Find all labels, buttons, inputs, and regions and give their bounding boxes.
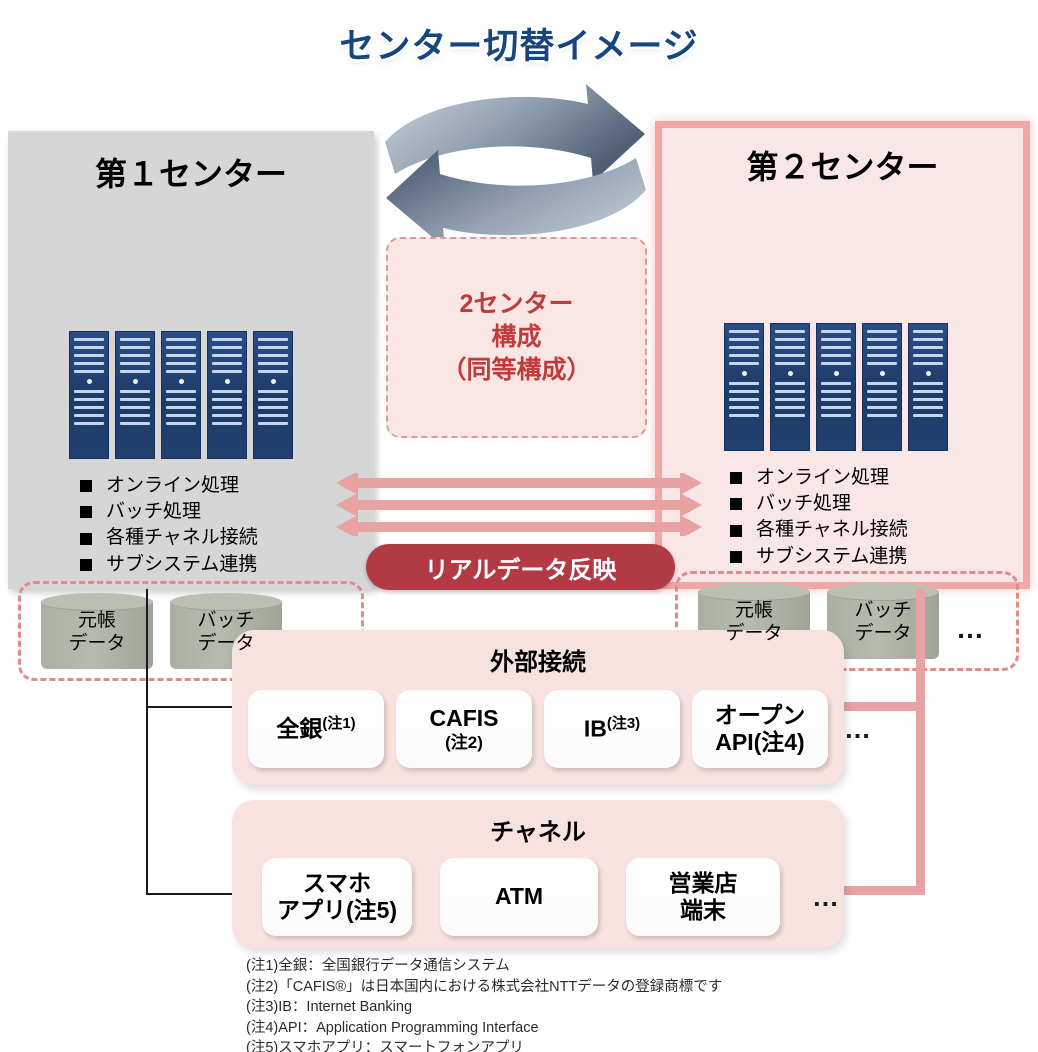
connector-right-to-channel (838, 886, 918, 895)
server-rack-icon (69, 331, 109, 459)
external-connections-title: 外部接続 (232, 642, 844, 677)
server-rack-icon (115, 331, 155, 459)
bullet-square-icon (80, 506, 92, 518)
bullet-square-icon (730, 551, 742, 563)
db-label-line2: データ (170, 632, 282, 655)
bullet-square-icon (730, 472, 742, 484)
note-line-2: 構成 (491, 321, 541, 354)
db-label-line2: データ (827, 622, 939, 645)
feature-item: サブシステム連携 (80, 552, 258, 578)
center-1-title: 第１センター (8, 149, 374, 195)
card-label: スマホ (277, 870, 397, 897)
server-rack-icon (908, 323, 948, 451)
card-zengin[interactable]: 全銀(注1) (248, 690, 384, 768)
card-label-2: 端末 (669, 897, 738, 924)
feature-item: バッチ処理 (80, 499, 258, 525)
server-rack-icon (207, 331, 247, 459)
center-1-feature-list: オンライン処理 バッチ処理 各種チャネル接続 サブシステム連携 (80, 473, 258, 578)
footnote-2: (注2)「CAFIS®」は日本国内における株式会社NTTデータの登録商標です (246, 977, 722, 998)
feature-item: オンライン処理 (730, 465, 908, 491)
bullet-square-icon (80, 533, 92, 545)
db-label-line1: 元帳 (41, 609, 153, 632)
connector-left-to-external (146, 706, 234, 708)
note-line-1: 2センター (460, 288, 574, 321)
server-rack-icon (770, 323, 810, 451)
card-note: (注2) (430, 733, 499, 753)
center-2-panel[interactable]: 第２センター (655, 121, 1030, 589)
footnote-4: (注4)API：Application Programming Interfac… (246, 1018, 722, 1039)
external-more-ellipsis: … (840, 690, 873, 768)
db-label-line1: 元帳 (698, 599, 810, 622)
card-label: 全銀 (276, 716, 322, 742)
realtime-replication-badge: リアルデータ反映 (366, 544, 675, 590)
footnote-3: (注3)IB：Internet Banking (246, 997, 722, 1018)
server-rack-icon (862, 323, 902, 451)
footnote-5: (注5)スマホアプリ：スマートフォンアプリ (246, 1038, 722, 1052)
channels-more-ellipsis: … (808, 858, 841, 936)
feature-label: 各種チャネル接続 (106, 525, 258, 551)
bullet-square-icon (730, 498, 742, 510)
server-rack-icon (253, 331, 293, 459)
channels-group[interactable]: チャネル スマホ アプリ(注5) ATM 営業店 端末 … (232, 800, 844, 948)
card-label: オープン (715, 702, 806, 729)
footnote-1: (注1)全銀：全国銀行データ通信システム (246, 956, 722, 977)
card-note: (注3) (607, 715, 640, 732)
card-label: IB (584, 716, 607, 742)
feature-item: サブシステム連携 (730, 544, 908, 570)
replication-arrows (336, 473, 702, 536)
card-note: (注1) (322, 715, 355, 732)
card-label: ATM (495, 883, 543, 910)
center-2-server-racks (724, 323, 948, 451)
swap-arrows-icon (383, 82, 648, 250)
two-center-note-box: 2センター 構成 （同等構成） (386, 237, 647, 438)
bullet-square-icon (80, 480, 92, 492)
card-label-2: アプリ(注5) (277, 897, 397, 924)
card-ib[interactable]: IB(注3) (544, 690, 680, 768)
footnotes: (注1)全銀：全国銀行データ通信システム (注2)「CAFIS®」は日本国内にお… (246, 956, 722, 1052)
db-label-line2: データ (698, 622, 810, 645)
external-connections-cards: 全銀(注1) CAFIS (注2) IB(注3) オープン API(注4) (248, 690, 873, 768)
channels-cards: スマホ アプリ(注5) ATM 営業店 端末 … (262, 858, 841, 936)
feature-label: バッチ処理 (756, 491, 851, 517)
feature-label: サブシステム連携 (756, 544, 907, 570)
feature-item: 各種チャネル接続 (730, 517, 908, 543)
feature-label: オンライン処理 (756, 465, 889, 491)
card-label: 営業店 (669, 870, 738, 897)
card-cafis[interactable]: CAFIS (注2) (396, 690, 532, 768)
db-label-line1: バッチ (170, 609, 282, 632)
center-2-title: 第２センター (662, 142, 1023, 188)
feature-label: バッチ処理 (106, 499, 201, 525)
feature-item: バッチ処理 (730, 491, 908, 517)
feature-label: オンライン処理 (106, 473, 239, 499)
channels-title: チャネル (232, 812, 844, 847)
feature-item: オンライン処理 (80, 473, 258, 499)
bullet-square-icon (730, 525, 742, 537)
external-connections-group[interactable]: 外部接続 全銀(注1) CAFIS (注2) IB(注3) オープ (232, 630, 844, 785)
database-cylinder-icon[interactable]: 元帳 データ (41, 593, 153, 669)
server-rack-icon (816, 323, 856, 451)
card-branch-terminal[interactable]: 営業店 端末 (626, 858, 780, 936)
feature-label: 各種チャネル接続 (756, 517, 908, 543)
diagram-canvas: センター切替イメージ 2センター 構成 (0, 0, 1038, 1052)
bullet-square-icon (80, 559, 92, 571)
feature-item: 各種チャネル接続 (80, 525, 258, 551)
db-label-line1: バッチ (827, 599, 939, 622)
feature-label: サブシステム連携 (106, 552, 257, 578)
center-2-feature-list: オンライン処理 バッチ処理 各種チャネル接続 サブシステム連携 (730, 465, 908, 570)
server-rack-icon (161, 331, 201, 459)
card-open-api[interactable]: オープン API(注4) (692, 690, 828, 768)
card-label-2: API(注4) (715, 729, 806, 756)
db-more-ellipsis: … (956, 615, 986, 643)
server-rack-icon (724, 323, 764, 451)
db-label-line2: データ (41, 632, 153, 655)
card-label: CAFIS (430, 705, 499, 732)
center-1-server-racks (69, 331, 293, 459)
card-atm[interactable]: ATM (440, 858, 598, 936)
center-1-panel[interactable]: 第１センター (8, 131, 374, 589)
connector-left-to-channel (146, 893, 234, 895)
card-smartphone-app[interactable]: スマホ アプリ(注5) (262, 858, 412, 936)
note-line-3: （同等構成） (441, 354, 591, 387)
page-title: センター切替イメージ (0, 18, 1038, 69)
